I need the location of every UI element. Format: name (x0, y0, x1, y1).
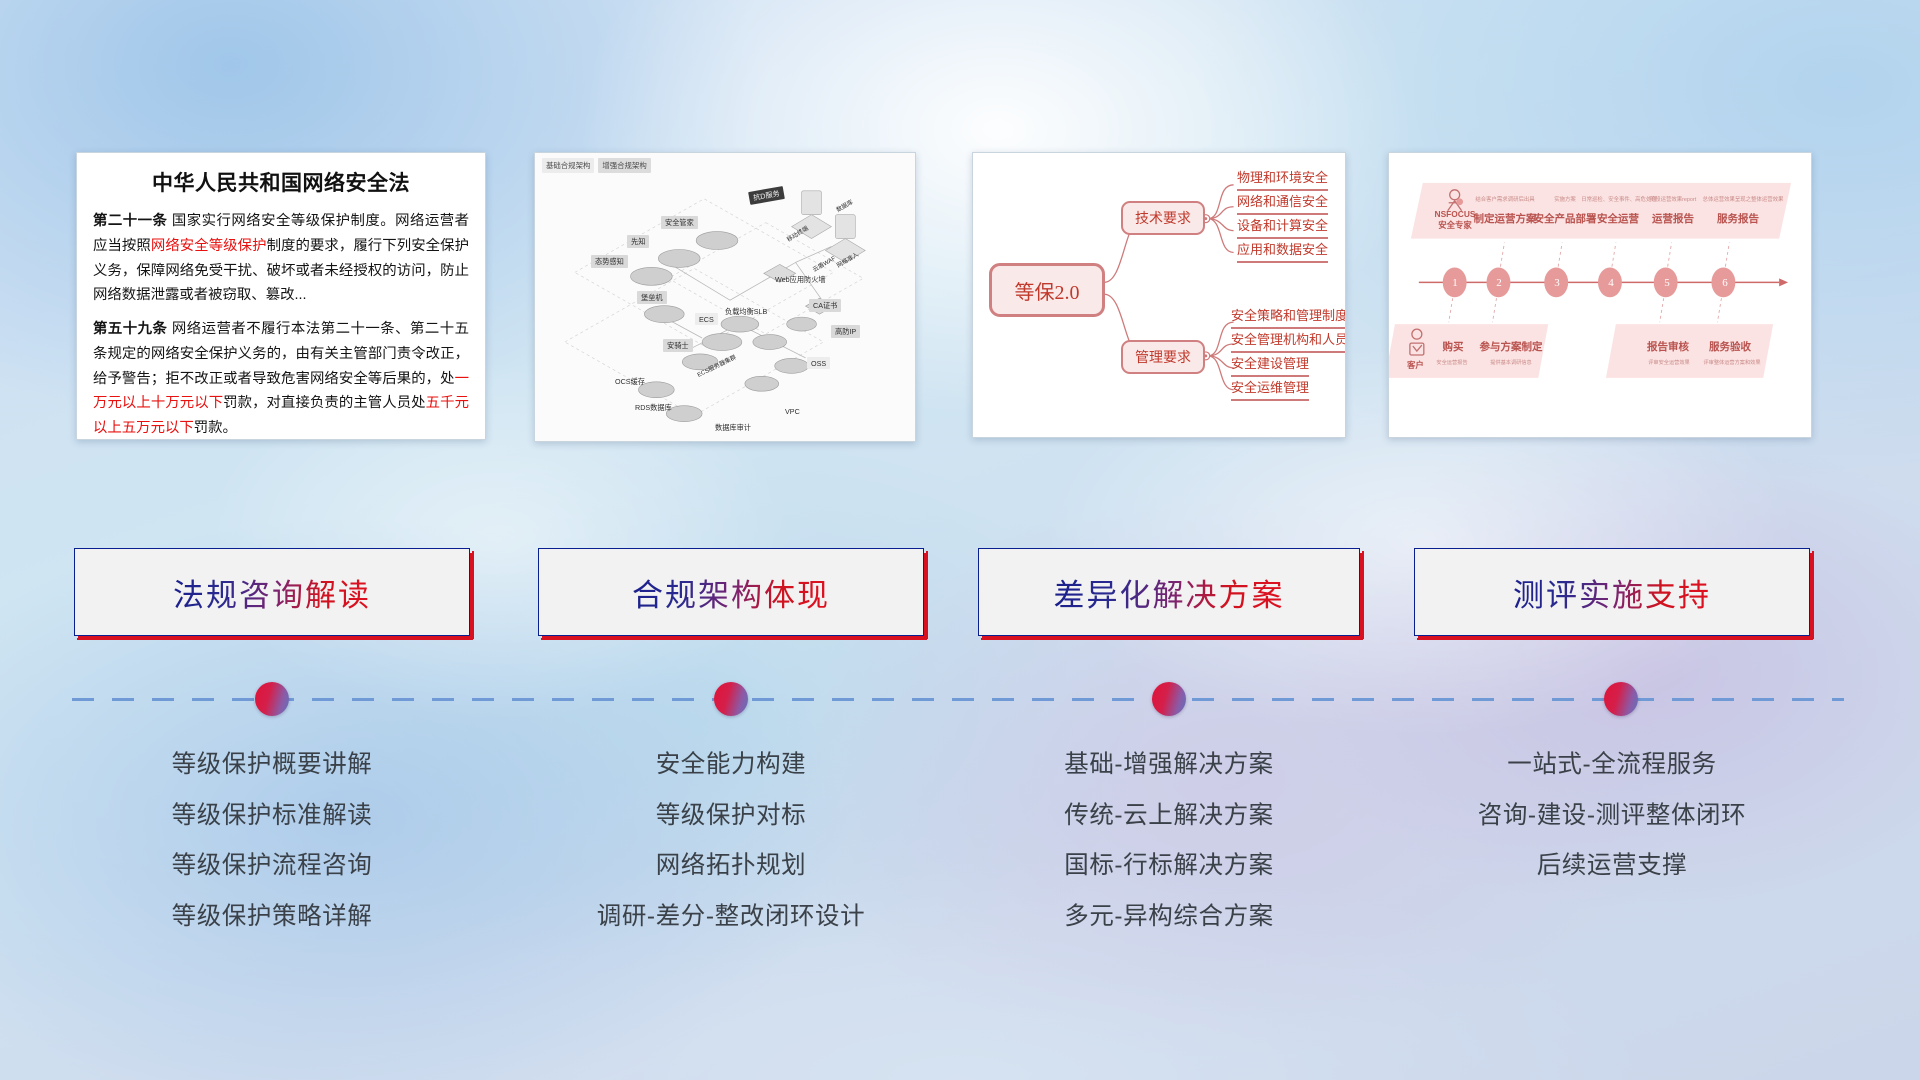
flow-customer-label: 客户 (1407, 359, 1424, 371)
slide-root: 中华人民共和国网络安全法 第二十一条 国家实行网络安全等级保护制度。网络运营者应… (0, 0, 1920, 1080)
timeline-dot-4 (1604, 682, 1638, 716)
list-item: 多元-异构综合方案 (978, 892, 1360, 943)
flow-bottom-sub-2: 提供基本调研信息 (1473, 359, 1549, 366)
architecture-canvas (535, 153, 915, 441)
mindmap-root-node: 等保2.0 (989, 263, 1105, 317)
list-item: 安全能力构建 (538, 740, 924, 791)
list-item: 国标-行标解决方案 (978, 841, 1360, 892)
mindmap-branch-technical: 技术要求 (1121, 201, 1205, 235)
list-item: 等级保护流程咨询 (74, 841, 470, 892)
mindmap-leaf-network-comm: 网络和通信安全 (1237, 191, 1328, 215)
mindmap-leaf-physical-env: 物理和环境安全 (1237, 167, 1328, 191)
banner-regulation-consulting[interactable]: 法规咨询解读 (74, 548, 470, 636)
banner-evaluation-support[interactable]: 测评实施支持 (1414, 548, 1810, 636)
list-regulation-consulting: 等级保护概要讲解 等级保护标准解读 等级保护流程咨询 等级保护策略详解 (74, 740, 470, 942)
arch-node-ocs-cache: OCS缓存 (611, 375, 649, 388)
list-item: 传统-云上解决方案 (978, 791, 1360, 842)
list-item: 咨询-建设-测评整体闭环 (1414, 791, 1810, 842)
list-item: 后续运营支撑 (1414, 841, 1810, 892)
flow-step-number-5: 5 (1650, 277, 1684, 289)
law-card[interactable]: 中华人民共和国网络安全法 第二十一条 国家实行网络安全等级保护制度。网络运营者应… (76, 152, 486, 440)
flow-step-number-3: 3 (1540, 277, 1574, 289)
list-item: 调研-差分-整改闭环设计 (538, 892, 924, 943)
arch-node-security-housekeeper: 安全管家 (661, 216, 698, 229)
arch-node-situational-awareness: 态势感知 (591, 255, 628, 268)
arch-node-ca-certificate: CA证书 (809, 299, 841, 312)
law-run: 罚款，对直接负责的主管人员处 (223, 395, 425, 411)
arch-node-foresight: 先知 (627, 235, 649, 248)
list-item: 网络拓扑规划 (538, 841, 924, 892)
list-item: 等级保护标准解读 (74, 791, 470, 842)
timeline-dot-2 (714, 682, 748, 716)
arch-node-ecs: ECS (695, 313, 718, 325)
timeline-dot-3 (1152, 682, 1186, 716)
list-compliance-architecture: 安全能力构建 等级保护对标 网络拓扑规划 调研-差分-整改闭环设计 (538, 740, 924, 942)
flow-bottom-sub-6: 评审整体运营方案和效果 (1689, 359, 1775, 366)
banner-differentiated-solutions[interactable]: 差异化解决方案 (978, 548, 1360, 636)
detail-list-row: 等级保护概要讲解 等级保护标准解读 等级保护流程咨询 等级保护策略详解 安全能力… (0, 740, 1920, 980)
list-evaluation-support: 一站式-全流程服务 咨询-建设-测评整体闭环 后续运营支撑 (1414, 740, 1810, 892)
list-item: 基础-增强解决方案 (978, 740, 1360, 791)
service-flow-card[interactable]: NSFOCUS 安全专家 客户 1 2 3 4 5 6 结合客户需求调研后出具 … (1388, 152, 1812, 438)
arch-node-database-audit: 数据库审计 (711, 421, 755, 434)
architecture-diagram: 基础合规架构 增强合规架构 (535, 153, 915, 441)
service-flow-diagram: NSFOCUS 安全专家 客户 1 2 3 4 5 6 结合客户需求调研后出具 … (1389, 153, 1811, 437)
flow-step-number-2: 2 (1482, 277, 1516, 289)
mindmap-leaf-construction-mgmt: 安全建设管理 (1231, 353, 1309, 377)
flow-bottom-title-6: 服务验收 (1699, 339, 1761, 354)
flow-bottom-title-2: 参与方案制定 (1473, 339, 1549, 354)
arch-node-high-defense-ip: 高防IP (831, 325, 860, 338)
flow-step-number-1: 1 (1438, 277, 1472, 289)
timeline-connector (0, 668, 1920, 732)
timeline-dot-1 (255, 682, 289, 716)
law-paragraph-59: 第五十九条 网络运营者不履行本法第二十一条、第二十五条规定的网络安全保护义务的，… (93, 317, 469, 440)
mindmap-card[interactable]: 等保2.0 技术要求 管理要求 物理和环境安全 网络和通信安全 设备和计算安全 … (972, 152, 1346, 438)
list-item: 等级保护对标 (538, 791, 924, 842)
banner-compliance-architecture[interactable]: 合规架构体现 (538, 548, 924, 636)
flow-top-title-6: 服务报告 (1701, 211, 1775, 226)
banner-label: 测评实施支持 (1513, 570, 1711, 615)
list-item: 一站式-全流程服务 (1414, 740, 1810, 791)
flow-step-number-4: 4 (1594, 277, 1628, 289)
banner-label: 差异化解决方案 (1054, 570, 1285, 615)
mindmap-leaf-ops-mgmt: 安全运维管理 (1231, 377, 1309, 401)
mindmap-leaf-device-compute: 设备和计算安全 (1237, 215, 1328, 239)
flow-step-number-6: 6 (1708, 277, 1742, 289)
banner-row: 法规咨询解读 合规架构体现 差异化解决方案 测评实施支持 (0, 548, 1920, 640)
list-item: 等级保护概要讲解 (74, 740, 470, 791)
mindmap-diagram: 等保2.0 技术要求 管理要求 物理和环境安全 网络和通信安全 设备和计算安全 … (973, 153, 1345, 437)
mindmap-leaf-app-data: 应用和数据安全 (1237, 239, 1328, 263)
flow-top-sub-6: 总体运营效果呈现之整体运营效果 (1691, 195, 1795, 203)
architecture-card[interactable]: 基础合规架构 增强合规架构 (534, 152, 916, 442)
mindmap-leaf-org-personnel: 安全管理机构和人员 (1231, 329, 1346, 353)
flow-bottom-title-5: 报告审核 (1637, 339, 1699, 354)
thumbnail-card-row: 中华人民共和国网络安全法 第二十一条 国家实行网络安全等级保护制度。网络运营者应… (0, 152, 1920, 442)
list-item: 等级保护策略详解 (74, 892, 470, 943)
flow-top-title-5: 运营报告 (1639, 211, 1707, 226)
flow-bottom-title-1: 购买 (1429, 339, 1477, 354)
mindmap-branch-management: 管理要求 (1121, 340, 1205, 374)
law-paragraph-21: 第二十一条 国家实行网络安全等级保护制度。网络运营者应当按照网络安全等级保护制度… (93, 209, 469, 308)
arch-node-bastion-host: 堡垒机 (637, 291, 667, 304)
arch-node-web-app-firewall: Web应用防火墙 (771, 273, 830, 286)
arch-node-vpc: VPC (781, 405, 804, 417)
law-run: 罚款。 (194, 420, 237, 436)
law-run-highlight: 网络安全等级保护 (151, 238, 267, 254)
law-article-21-label: 第二十一条 (93, 213, 167, 229)
banner-label: 合规架构体现 (632, 570, 830, 615)
law-article-59-label: 第五十九条 (93, 321, 167, 337)
timeline-dashed-line (72, 698, 1844, 701)
arch-node-security-knight: 安骑士 (663, 339, 693, 352)
law-card-body: 中华人民共和国网络安全法 第二十一条 国家实行网络安全等级保护制度。网络运营者应… (77, 153, 485, 440)
law-card-title: 中华人民共和国网络安全法 (93, 167, 469, 197)
list-differentiated-solutions: 基础-增强解决方案 传统-云上解决方案 国标-行标解决方案 多元-异构综合方案 (978, 740, 1360, 942)
arch-node-slb: 负载均衡SLB (721, 305, 771, 318)
banner-label: 法规咨询解读 (173, 570, 371, 615)
arch-node-rds-database: RDS数据库 (631, 401, 676, 414)
mindmap-leaf-policy-system: 安全策略和管理制度 (1231, 305, 1346, 329)
arch-node-oss: OSS (807, 357, 830, 369)
